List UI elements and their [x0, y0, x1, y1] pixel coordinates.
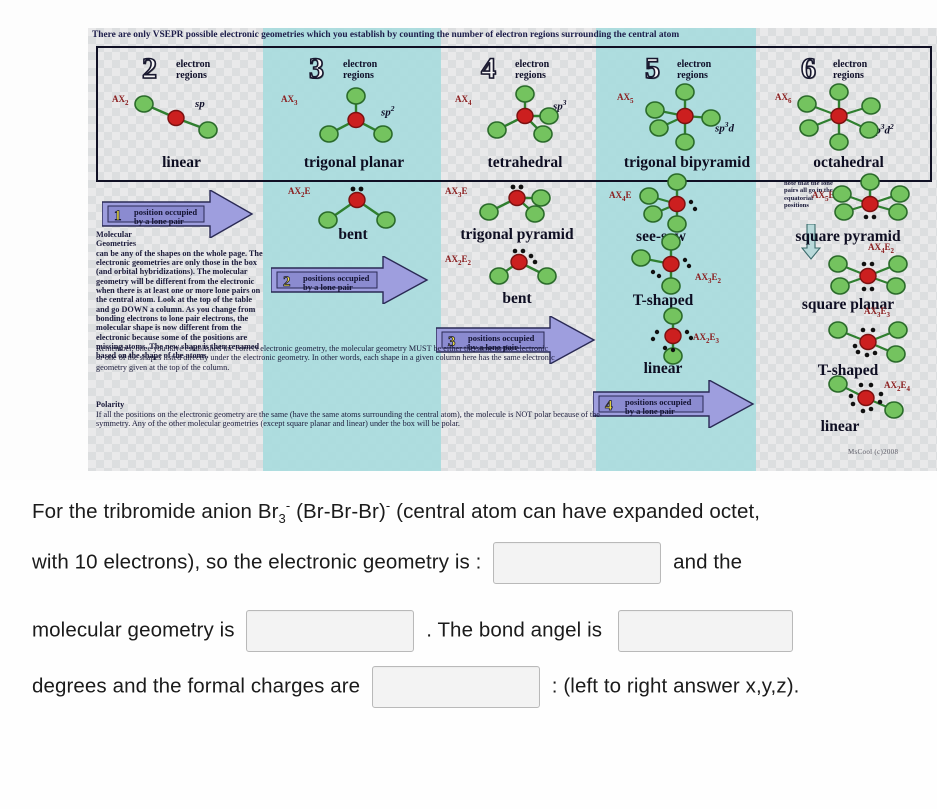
question-line1-text-c: (central atom can have expanded octet,: [390, 500, 760, 523]
molecule-linear: [128, 92, 224, 140]
ax-formula-ax4: AX4: [455, 94, 472, 107]
region-label-2: electron regions: [176, 60, 220, 81]
question-line-3: molecular geometry is . The bond angel i…: [32, 610, 793, 652]
question-line3-text-a: molecular geometry is: [32, 618, 235, 641]
molecular-geometries-note: Molecular Geometries can be any of the s…: [96, 230, 264, 361]
vsepr-chart-image: There are only VSEPR possible electronic…: [88, 28, 937, 471]
remember-note: Remember, once you have established the …: [96, 344, 556, 372]
question-line-1: For the tribromide anion Br3- (Br-Br-Br)…: [32, 498, 760, 526]
molecular-geometries-heading-line2: Geometries: [96, 239, 264, 248]
molecular-cell-bent-ax2e2: AX2E2 bent: [433, 242, 601, 312]
shape-name-bent-ax2e2: bent: [433, 290, 601, 308]
bond-angle-input[interactable]: [618, 610, 793, 652]
question-line2-text-b: and the: [673, 550, 742, 573]
molecule-t-shaped-ax3e2: [627, 234, 713, 294]
molecular-geometry-input[interactable]: [246, 610, 414, 652]
arrow-1-line2: by a lone pair: [134, 217, 184, 227]
copyright-notice: MsCool (c)2008: [848, 448, 898, 456]
shape-name-linear-ax2e3: linear: [583, 360, 743, 378]
region-label-6: electron regions: [833, 60, 879, 81]
shape-name-octahedral: octahedral: [767, 154, 930, 172]
chart-heading: There are only VSEPR possible electronic…: [92, 30, 937, 40]
molecule-octahedral: [793, 82, 885, 154]
ax-formula-ax2e2: AX2E2: [445, 254, 471, 267]
br3-subscript: 3: [279, 511, 286, 526]
ax-formula-ax3e3: AX3E3: [864, 306, 890, 319]
molecular-cell-square-planar: AX4E2 square planar: [760, 238, 928, 314]
shape-name-tetrahedral: tetrahedral: [443, 154, 607, 172]
shape-name-t-shaped-ax3e2: T-shaped: [583, 292, 743, 310]
molecule-bent-ax2e2: [485, 246, 565, 292]
electronic-geometry-input[interactable]: [493, 542, 661, 584]
region-label-5: electron regions: [677, 60, 723, 81]
molecule-square-planar: [822, 252, 914, 302]
question-panel: For the tribromide anion Br3- (Br-Br-Br)…: [0, 480, 937, 809]
molecular-geometries-heading-line1: Molecular: [96, 230, 264, 239]
ax-formula-ax3: AX3: [281, 94, 298, 107]
molecular-cell-linear-ax2e4: AX2E4 linear: [760, 372, 928, 442]
shape-name-trigonal-planar: trigonal planar: [265, 154, 443, 172]
chart-heading-part-2: possible electronic geometries which you…: [183, 30, 679, 40]
molecular-cell-square-pyramid: AX5E square pyramid: [760, 174, 928, 248]
question-line1-text-a: For the tribromide anion Br: [32, 500, 279, 523]
molecule-square-pyramid: [824, 174, 916, 232]
molecule-linear-ax2e4: [820, 374, 912, 422]
molecule-see-saw: [635, 174, 721, 232]
molecule-trigonal-bipyramid: [639, 82, 725, 154]
electronic-geometry-cell-tetrahedral: 4 electron regions AX4 sp3: [443, 48, 607, 180]
ax-formula-ax6: AX6: [775, 92, 792, 105]
molecular-cell-t-shaped-ax3e3: AX3E3 T-shaped: [760, 304, 928, 380]
shape-name-linear: linear: [98, 154, 265, 172]
region-count-6: 6: [801, 54, 816, 84]
arrow-banner-2-lone-pairs: 2 positions occupied by a lone pair: [271, 256, 429, 304]
question-line3-text-b: . The bond angel is: [426, 618, 602, 641]
arrow-1-number: 1: [114, 209, 122, 224]
shape-name-trigonal-bipyramid: trigonal bipyramid: [603, 154, 771, 172]
ax-formula-ax4e: AX4E: [609, 190, 632, 203]
shape-name-linear-ax2e4: linear: [752, 418, 928, 436]
electronic-geometry-cell-trigonal-planar: 3 electron regions AX3 sp2 trigonal p: [265, 48, 443, 180]
region-count-3: 3: [309, 54, 324, 84]
polarity-heading: Polarity: [96, 400, 110, 409]
ax-formula-ax3e: AX3E: [445, 186, 468, 199]
formal-charges-input[interactable]: [372, 666, 540, 708]
molecular-cell-t-shaped-ax3e2: AX3E2 T-shaped: [597, 234, 757, 314]
shape-name-bent-ax2e: bent: [268, 226, 438, 244]
electronic-geometries-box: 2 electron regions AX2 sp linear: [96, 46, 932, 182]
question-line-4: degrees and the formal charges are : (le…: [32, 666, 799, 708]
molecule-tetrahedral: [483, 86, 567, 144]
question-line-2: with 10 electrons), so the electronic ge…: [32, 542, 742, 584]
electronic-geometry-cell-octahedral: 6 electron regions AX6 sp3d2: [767, 48, 930, 180]
electronic-geometry-cell-trigonal-bipyramid: 5 electron regions AX5 sp3d: [607, 48, 767, 180]
region-label-3: electron regions: [343, 60, 387, 81]
question-line2-text-a: with 10 electrons), so the electronic ge…: [32, 550, 481, 573]
page-root: There are only VSEPR possible electronic…: [0, 0, 937, 809]
molecule-trigonal-planar: [313, 86, 399, 144]
molecular-cell-linear-ax2e3: AX2E3 linear: [597, 310, 757, 380]
molecule-trigonal-pyramid: [477, 180, 561, 228]
arrow-2-number: 2: [283, 275, 291, 290]
molecular-cell-trigonal-pyramid: AX3E trigonal pyramid: [433, 178, 601, 246]
chart-heading-part-1: There are only: [92, 30, 153, 40]
ax-formula-ax5: AX5: [617, 92, 634, 105]
ax-formula-ax2: AX2: [112, 94, 129, 107]
polarity-body: If all the positions on the electronic g…: [96, 410, 636, 429]
chart-heading-vsepr: VSEPR: [153, 30, 184, 40]
molecule-t-shaped-ax3e3: [822, 318, 914, 368]
region-count-5: 5: [645, 54, 660, 84]
molecule-bent-ax2e: [308, 182, 406, 230]
molecular-cell-bent-ax2e: AX2E bent: [268, 178, 438, 246]
arrow-2-line2: by a lone pair: [303, 283, 353, 293]
region-count-2: 2: [142, 54, 157, 84]
question-line4-text-a: degrees and the formal charges are: [32, 674, 360, 697]
region-count-4: 4: [481, 54, 496, 84]
region-label-4: electron regions: [515, 60, 559, 81]
question-line1-text-b: (Br-Br-Br): [290, 500, 386, 523]
electronic-geometry-cell-linear: 2 electron regions AX2 sp linear: [98, 48, 265, 180]
question-line4-text-b: : (left to right answer x,y,z).: [552, 674, 800, 697]
